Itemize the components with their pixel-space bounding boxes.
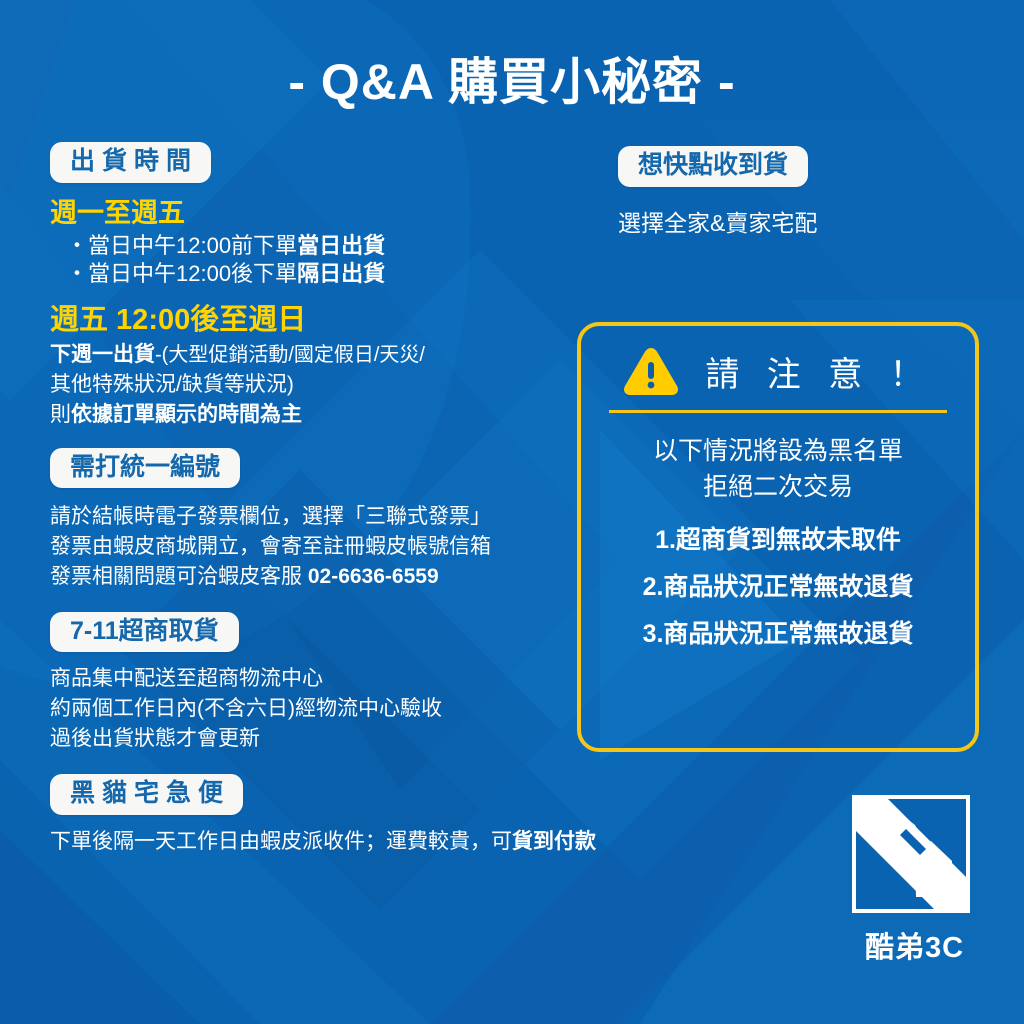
invoice-service-phone: 02-6636-6559	[308, 565, 439, 588]
badge-invoice: 需打統一編號	[50, 448, 240, 489]
invoice-line-1: 請於結帳時電子發票欄位，選擇「三聯式發票」	[50, 502, 580, 532]
badge-711-pickup: 7-11超商取貨	[50, 612, 239, 653]
warning-body: 以下情況將設為黑名單 拒絕二次交易 1.超商貨到無故未取件 2.商品狀況正常無故…	[581, 413, 975, 647]
section-takkyubin: 黑貓宅急便 下單後隔一天工作日由蝦皮派收件；運費較貴，可貨到付款	[50, 774, 580, 857]
bullet-before-noon-strong: 當日出貨	[297, 233, 385, 258]
brand-logo: 酷弟3C	[842, 795, 987, 966]
badge-fast-delivery: 想快點收到貨	[618, 146, 808, 187]
right-column: 想快點收到貨 選擇全家&賣家宅配	[618, 146, 998, 239]
pickup-line-1: 商品集中配送至超商物流中心	[50, 664, 580, 694]
badge-takkyubin: 黑貓宅急便	[50, 774, 243, 815]
heading-weekday: 週一至週五	[50, 191, 580, 230]
brand-name: 酷弟3C	[842, 924, 987, 966]
takkyubin-line: 下單後隔一天工作日由蝦皮派收件；運費較貴，可貨到付款	[50, 827, 580, 857]
bullet-after-noon-prefix: ・當日中午12:00後下單	[66, 261, 297, 286]
warning-item-3: 3.商品狀況正常無故退貨	[593, 622, 963, 647]
warning-title: 請 注 意 ！	[701, 347, 932, 396]
para-next-monday-rest: -(大型促銷活動/國定假日/天災/	[155, 344, 425, 366]
para-next-monday-line1: 下週一出貨-(大型促銷活動/國定假日/天災/	[50, 340, 580, 370]
takkyubin-prefix: 下單後隔一天工作日由蝦皮派收件；運費較貴，可	[50, 830, 512, 853]
warning-subtitle-1: 以下情況將設為黑名單	[593, 433, 963, 469]
bullet-after-noon: ・當日中午12:00後下單隔日出貨	[50, 260, 580, 288]
left-column: 出貨時間 週一至週五 ・當日中午12:00前下單當日出貨 ・當日中午12:00後…	[50, 142, 580, 856]
warning-triangle-icon	[623, 346, 679, 396]
para-next-monday-line3: 則依據訂單顯示的時間為主	[50, 400, 580, 430]
pickup-line-3: 過後出貨狀態才會更新	[50, 724, 580, 754]
takkyubin-strong: 貨到付款	[512, 830, 596, 853]
invoice-line-3: 發票相關問題可洽蝦皮客服 02-6636-6559	[50, 562, 580, 592]
section-invoice: 需打統一編號 請於結帳時電子發票欄位，選擇「三聯式發票」 發票由蝦皮商城開立，會…	[50, 448, 580, 592]
para-next-monday-line2: 其他特殊狀況/缺貨等狀況)	[50, 370, 580, 400]
plug-charger-icon	[852, 795, 970, 913]
page-title: - Q&A 購買小秘密 -	[0, 42, 1024, 114]
bullet-before-noon-prefix: ・當日中午12:00前下單	[66, 233, 297, 258]
invoice-service-prefix: 發票相關問題可洽蝦皮客服	[50, 565, 308, 588]
warning-header: 請 注 意 ！	[581, 326, 975, 396]
warning-box: 請 注 意 ！ 以下情況將設為黑名單 拒絕二次交易 1.超商貨到無故未取件 2.…	[577, 322, 979, 752]
badge-shipping-time: 出貨時間	[50, 142, 211, 183]
warning-item-2: 2.商品狀況正常無故退貨	[593, 575, 963, 600]
para-next-monday-strong: 下週一出貨	[50, 343, 155, 366]
heading-friday-weekend: 週五 12:00後至週日	[50, 296, 580, 338]
section-711-pickup: 7-11超商取貨 商品集中配送至超商物流中心 約兩個工作日內(不含六日)經物流中…	[50, 612, 580, 754]
bullet-after-noon-strong: 隔日出貨	[297, 261, 385, 286]
bullet-before-noon: ・當日中午12:00前下單當日出貨	[50, 232, 580, 260]
fast-delivery-text: 選擇全家&賣家宅配	[618, 207, 998, 239]
para-rule-strong: 依據訂單顯示的時間為主	[71, 403, 302, 426]
section-shipping-time: 出貨時間 週一至週五 ・當日中午12:00前下單當日出貨 ・當日中午12:00後…	[50, 142, 580, 430]
warning-subtitle-2: 拒絕二次交易	[593, 469, 963, 505]
warning-item-1: 1.超商貨到無故未取件	[593, 528, 963, 553]
pickup-line-2: 約兩個工作日內(不含六日)經物流中心驗收	[50, 694, 580, 724]
para-rule-prefix: 則	[50, 403, 71, 426]
invoice-line-2: 發票由蝦皮商城開立，會寄至註冊蝦皮帳號信箱	[50, 532, 580, 562]
